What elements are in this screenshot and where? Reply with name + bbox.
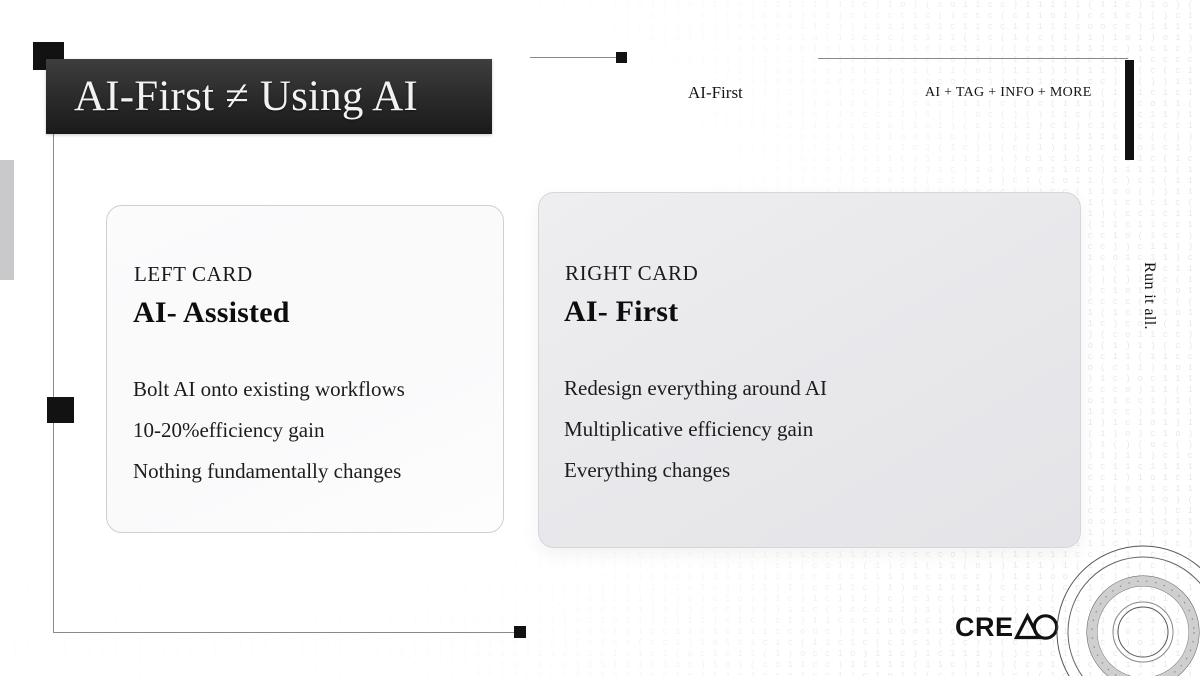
header-center-label: AI-First xyxy=(688,83,743,103)
list-item: Redesign everything around AI xyxy=(564,368,827,409)
frame-line-top-right-horizontal xyxy=(818,58,1128,59)
header-right-label: AI + TAG + INFO + MORE xyxy=(925,85,1092,101)
side-vertical-label: Run it all. xyxy=(1140,262,1158,330)
line-end-marker-bottom xyxy=(514,626,526,638)
card-left[interactable]: LEFT CARD AI- Assisted Bolt AI onto exis… xyxy=(106,205,504,533)
list-item: 10-20%efficiency gain xyxy=(133,410,405,451)
card-right[interactable]: RIGHT CARD AI- First Redesign everything… xyxy=(538,192,1081,548)
concentric-rings-graphic xyxy=(1056,545,1200,676)
line-end-marker-top xyxy=(616,52,627,63)
card-left-eyebrow: LEFT CARD xyxy=(134,262,253,287)
slide-canvas: 111(11c)1o)(co11cc)11111(11c)1o)(co11cc)… xyxy=(0,0,1200,676)
frame-line-top-left-horizontal xyxy=(530,57,622,58)
logo-wordmark: CRE xyxy=(955,614,1014,641)
list-item: Bolt AI onto existing workflows xyxy=(133,369,405,410)
card-left-heading: AI- Assisted xyxy=(133,296,290,330)
list-item: Nothing fundamentally changes xyxy=(133,451,405,492)
page-title: AI-First ≠ Using AI xyxy=(46,75,418,118)
list-item: Everything changes xyxy=(564,450,827,491)
list-item: Multiplicative efficiency gain xyxy=(564,409,827,450)
left-edge-tab xyxy=(0,160,14,280)
right-vertical-bar xyxy=(1125,60,1134,160)
creao-triangle-circle-mark-icon xyxy=(1014,613,1060,641)
card-right-bullet-list: Redesign everything around AI Multiplica… xyxy=(564,368,827,491)
creao-logo: CRE xyxy=(955,613,1060,641)
card-right-eyebrow: RIGHT CARD xyxy=(565,261,698,286)
corner-marker-mid-left xyxy=(47,397,74,423)
card-left-bullet-list: Bolt AI onto existing workflows 10-20%ef… xyxy=(133,369,405,492)
frame-line-bottom-horizontal xyxy=(53,632,523,633)
slide-title-bar: AI-First ≠ Using AI xyxy=(46,59,492,134)
card-right-heading: AI- First xyxy=(564,295,678,329)
